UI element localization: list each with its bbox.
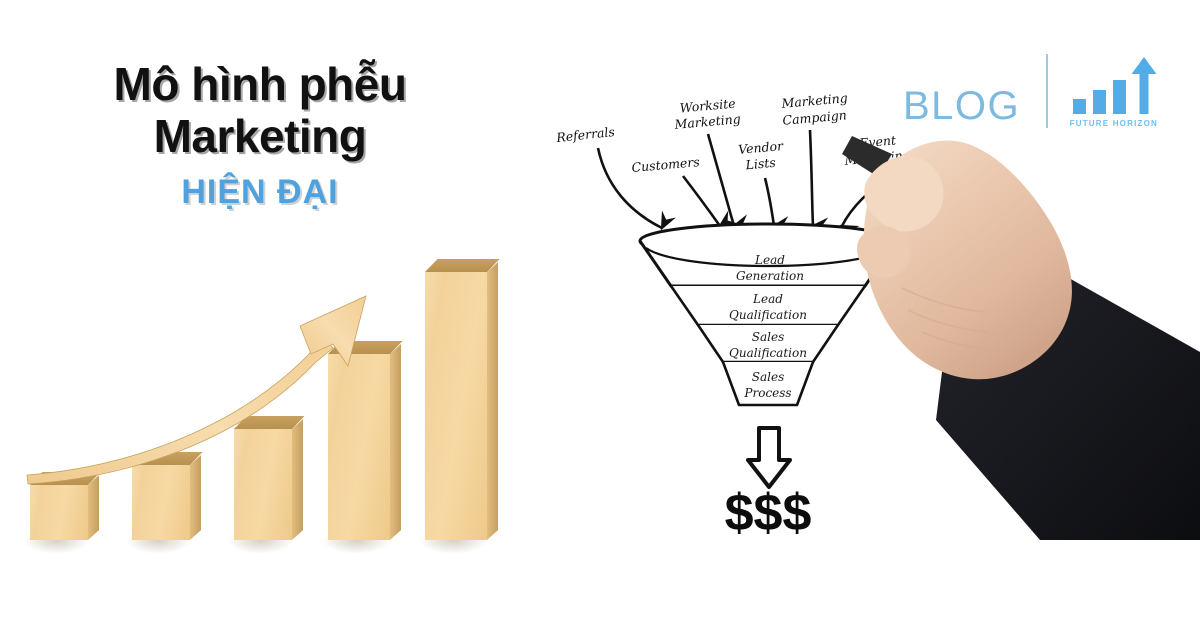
brand-divider — [1046, 54, 1048, 128]
arrow-vendor — [765, 178, 774, 226]
stage-label-sales-qualification-l2: Qualification — [729, 346, 807, 360]
input-label-vendor-lists-l1: Vendor — [738, 138, 785, 157]
growth-arrow — [0, 270, 530, 600]
stage-label-sales-qualification-l1: Sales — [752, 330, 784, 344]
funnel-output-value: $$$ — [725, 484, 812, 542]
promo-banner: Mô hình phễu Marketing HIỆN ĐẠI — [0, 0, 1200, 628]
title-line-3-accent: HIỆN ĐẠI — [0, 173, 520, 212]
blog-label[interactable]: BLOG — [903, 86, 1020, 126]
arrow-customers — [683, 176, 720, 226]
stage-label-lead-generation-l2: Generation — [736, 269, 804, 283]
stage-label-lead-generation-l1: Lead — [754, 253, 785, 267]
logo-wordmark: FUTURE HORIZON — [1070, 119, 1158, 128]
stage-label-lead-qualification-l1: Lead — [752, 292, 783, 306]
growth-chart-logo-icon — [1073, 56, 1155, 114]
logo-bar-3 — [1113, 80, 1126, 114]
title-line-2: Marketing — [0, 110, 520, 162]
funnel-output-arrow-icon — [748, 428, 790, 487]
logo-bar-1 — [1073, 99, 1086, 114]
hand-with-marker — [830, 120, 1200, 540]
input-label-vendor-lists-l2: Lists — [744, 155, 776, 173]
arrow-body — [27, 340, 333, 484]
input-label-customers: Customers — [631, 154, 700, 175]
arrow-campaign — [810, 130, 813, 226]
input-label-referrals: Referrals — [555, 124, 616, 145]
stage-label-lead-qualification-l2: Qualification — [729, 308, 807, 322]
title-line-1: Mô hình phễu — [0, 58, 520, 110]
stage-label-sales-process-l2: Process — [743, 386, 791, 400]
stage-label-sales-process-l1: Sales — [752, 370, 784, 384]
brand-block: BLOG FUTURE HORIZON — [903, 50, 1158, 142]
logo-up-arrow-icon — [1131, 56, 1157, 114]
title-block: Mô hình phễu Marketing HIỆN ĐẠI — [0, 58, 520, 212]
arrow-worksite — [708, 134, 734, 226]
logo-bar-2 — [1093, 90, 1106, 114]
future-horizon-logo[interactable]: FUTURE HORIZON — [1070, 56, 1158, 128]
